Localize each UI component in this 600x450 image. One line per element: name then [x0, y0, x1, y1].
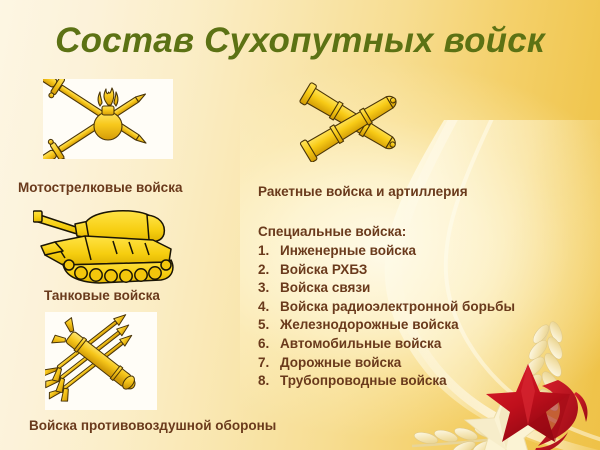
caption-air-defense: Войска противовоздушной обороны — [29, 418, 276, 433]
crossed-swords-grenade-icon — [43, 79, 173, 159]
list-item-label: Железнодорожные войска — [280, 316, 459, 335]
list-item-label: Войска связи — [280, 279, 370, 298]
list-item-number: 7. — [258, 354, 280, 373]
list-item-number: 5. — [258, 316, 280, 335]
heading-rocket-artillery: Ракетные войска и артиллерия — [258, 184, 588, 200]
list-item: 1. Инженерные войска — [258, 242, 588, 261]
caption-tank-troops: Танковые войска — [44, 288, 160, 303]
crossed-missile-arrows-icon — [45, 312, 157, 410]
list-item-label: Автомобильные войска — [280, 335, 441, 354]
heading-special-troops: Специальные войска: — [258, 224, 588, 240]
list-item-number: 4. — [258, 298, 280, 317]
slide-canvas: Состав Сухопутных войск — [0, 0, 600, 450]
cream-star-icon — [465, 392, 547, 450]
list-item: 3. Войска связи — [258, 279, 588, 298]
tank-icon — [33, 202, 198, 287]
list-item-number: 3. — [258, 279, 280, 298]
list-item: 5. Железнодорожные войска — [258, 316, 588, 335]
list-item-label: Войска радиоэлектронной борьбы — [280, 298, 515, 317]
right-text-column: Ракетные войска и артиллерия Специальные… — [258, 184, 588, 391]
list-item-number: 1. — [258, 242, 280, 261]
caption-motor-rifle: Мотострелковые войска — [18, 180, 182, 195]
list-item-label: Войска РХБЗ — [280, 261, 367, 280]
list-item: 4. Войска радиоэлектронной борьбы — [258, 298, 588, 317]
list-item-number: 6. — [258, 335, 280, 354]
list-item: 8. Трубопроводные войска — [258, 372, 588, 391]
list-item-number: 2. — [258, 261, 280, 280]
page-title: Состав Сухопутных войск — [0, 22, 600, 61]
list-item-label: Дорожные войска — [280, 354, 401, 373]
crossed-cannons-icon — [295, 82, 417, 162]
list-item-number: 8. — [258, 372, 280, 391]
list-item-label: Инженерные войска — [280, 242, 416, 261]
list-item: 6. Автомобильные войска — [258, 335, 588, 354]
list-item: 7. Дорожные войска — [258, 354, 588, 373]
special-troops-list: 1. Инженерные войска 2. Войска РХБЗ 3. В… — [258, 242, 588, 391]
list-item-label: Трубопроводные войска — [280, 372, 447, 391]
list-item: 2. Войска РХБЗ — [258, 261, 588, 280]
